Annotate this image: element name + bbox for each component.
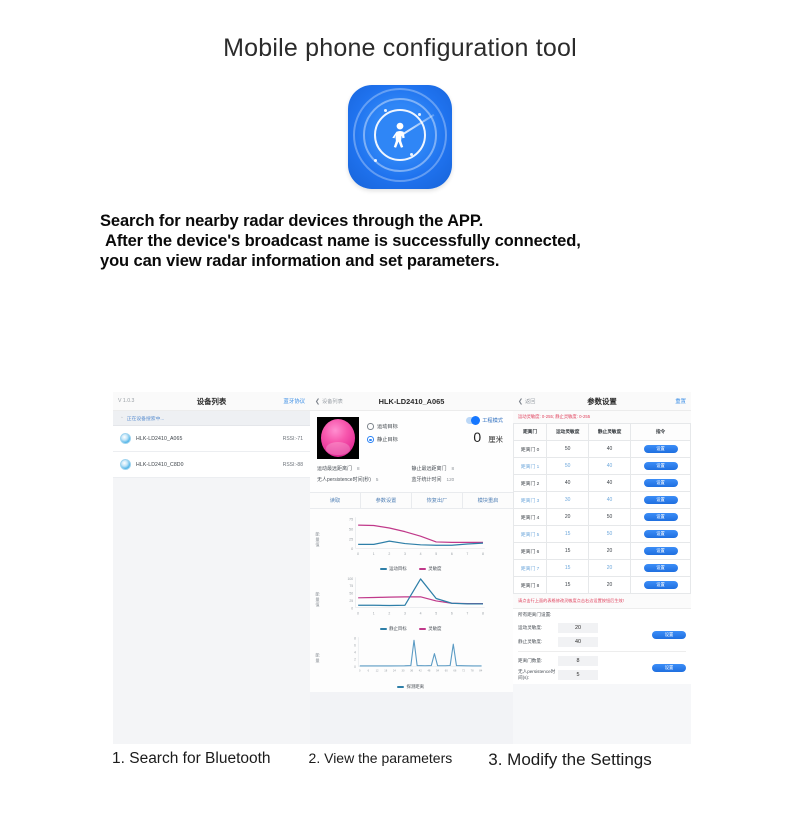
svg-text:8: 8 <box>354 637 356 641</box>
svg-text:0: 0 <box>357 611 359 615</box>
target-type-radio-group: 运动目标 静止目标 <box>367 417 398 449</box>
svg-text:4: 4 <box>420 552 422 556</box>
info-field: 静止最远距离门 8 <box>412 465 507 472</box>
step-captions: 1. Search for Bluetooth 2. View the para… <box>0 750 800 770</box>
all-gates-form: 所有距离门设置: 运动灵敏度: 20 静止灵敏度: 40 设置 距离门数量: <box>513 609 691 684</box>
cell-motion[interactable]: 15 <box>547 560 589 577</box>
form-divider <box>518 651 686 652</box>
column-header-gate: 距离门 <box>514 424 547 441</box>
radar-blip-icon <box>410 153 413 156</box>
cell-motion[interactable]: 15 <box>547 543 589 560</box>
info-key: 静止最远距离门 <box>412 465 447 472</box>
cell-still[interactable]: 20 <box>589 543 631 560</box>
cell-motion[interactable]: 40 <box>547 475 589 492</box>
cell-still[interactable]: 40 <box>589 475 631 492</box>
table-row[interactable]: 距离门 4 20 50 设置 <box>514 509 691 526</box>
legend-item: 探测距离 <box>397 684 424 690</box>
radio-option-still[interactable]: 静止目标 <box>367 436 398 443</box>
form-action-column: 设置 <box>652 621 686 649</box>
radar-blip-icon <box>418 113 421 116</box>
cell-gate: 距离门 1 <box>514 458 547 475</box>
svg-text:8: 8 <box>482 552 484 556</box>
cell-motion[interactable]: 15 <box>547 526 589 543</box>
table-row[interactable]: 距离门 3 30 40 设置 <box>514 492 691 509</box>
set-button[interactable]: 设置 <box>644 564 678 573</box>
cell-action: 设置 <box>631 509 691 526</box>
radar-app-icon <box>348 85 452 189</box>
scan-spinner-icon: ◦ <box>121 415 123 421</box>
motion-sensitivity-input[interactable]: 20 <box>558 623 598 633</box>
read-button[interactable]: 读取 <box>310 493 361 508</box>
cell-motion[interactable]: 50 <box>547 441 589 458</box>
still-sensitivity-input[interactable]: 40 <box>558 637 598 647</box>
svg-text:12: 12 <box>376 669 379 673</box>
detail-body: 运动目标 静止目标 工程模式 0 厘米 <box>310 411 513 692</box>
svg-text:3: 3 <box>404 552 406 556</box>
svg-text:36: 36 <box>410 669 413 673</box>
set-button[interactable]: 设置 <box>652 631 686 640</box>
cell-motion[interactable]: 30 <box>547 492 589 509</box>
cell-gate: 距离门 4 <box>514 509 547 526</box>
no-person-duration-input[interactable]: 5 <box>558 670 598 680</box>
radar-blip-icon <box>384 109 387 112</box>
info-key: 无人persistence时间(秒) <box>317 476 371 483</box>
svg-text:3: 3 <box>404 611 406 615</box>
svg-text:7: 7 <box>466 611 468 615</box>
detail-top-section: 运动目标 静止目标 工程模式 0 厘米 <box>310 411 513 463</box>
info-row: 运动最远距离门 8 静止最远距离门 8 <box>317 465 506 472</box>
cell-gate: 距离门 0 <box>514 441 547 458</box>
svg-text:2: 2 <box>388 552 390 556</box>
set-button[interactable]: 设置 <box>644 547 678 556</box>
list-item[interactable]: HLK-LD2410_C8D0 RSSI:-88 <box>113 452 310 478</box>
form-action-column: 设置 <box>652 654 686 682</box>
info-key: 蓝牙统计时间 <box>412 476 442 483</box>
table-row[interactable]: 距离门 8 15 20 设置 <box>514 577 691 594</box>
parameter-settings-button[interactable]: 参数设置 <box>361 493 412 508</box>
svg-text:54: 54 <box>436 669 439 673</box>
caption-step-1: 1. Search for Bluetooth <box>112 750 271 770</box>
svg-text:72: 72 <box>462 669 465 673</box>
factory-reset-button[interactable]: 恢复出厂 <box>412 493 463 508</box>
svg-text:5: 5 <box>435 552 437 556</box>
cell-gate: 距离门 7 <box>514 560 547 577</box>
cell-gate: 距离门 5 <box>514 526 547 543</box>
cell-motion[interactable]: 20 <box>547 509 589 526</box>
svg-text:78: 78 <box>471 669 474 673</box>
svg-text:4: 4 <box>420 611 422 615</box>
cell-gate: 距离门 2 <box>514 475 547 492</box>
app-icon-container <box>0 85 800 189</box>
radio-option-motion[interactable]: 运动目标 <box>367 423 398 430</box>
svg-text:6: 6 <box>368 669 370 673</box>
column-header-action: 指令 <box>631 424 691 441</box>
description-block: Search for nearby radar devices through … <box>0 211 800 271</box>
list-item[interactable]: HLK-LD2410_A065 RSSI:-71 <box>113 426 310 452</box>
detail-navbar: ❮ 设备列表 HLK-LD2410_A065 <box>310 392 513 411</box>
svg-text:6: 6 <box>354 644 356 648</box>
svg-text:0: 0 <box>354 665 356 669</box>
info-field: 蓝牙统计时间 120 <box>412 476 507 483</box>
svg-text:30: 30 <box>402 669 405 673</box>
svg-text:0: 0 <box>351 547 353 551</box>
chart-ylabel: 能量 <box>314 634 321 683</box>
cell-still[interactable]: 40 <box>589 458 631 475</box>
caption-step-2: 2. View the parameters <box>309 750 453 770</box>
settings-navbar: ❮ 返回 参数设置 重置 <box>513 392 691 411</box>
svg-text:6: 6 <box>451 552 453 556</box>
cell-still[interactable]: 40 <box>589 441 631 458</box>
settings-warning-text: 请点击行上面的表格修改灵敏度点击右边设置按钮后生效! <box>513 594 691 609</box>
svg-text:18: 18 <box>384 669 387 673</box>
svg-text:1: 1 <box>373 552 375 556</box>
cell-action: 设置 <box>631 475 691 492</box>
detail-title: HLK-LD2410_A065 <box>310 397 513 406</box>
engineering-mode-toggle[interactable] <box>466 417 479 424</box>
set-button[interactable]: 设置 <box>644 462 678 471</box>
table-row[interactable]: 距离门 5 15 50 设置 <box>514 526 691 543</box>
radar-target-blob <box>321 419 355 457</box>
scan-status-label: 正在设备搜索中... <box>127 415 165 422</box>
device-name: HLK-LD2410_C8D0 <box>136 462 184 468</box>
bluetooth-icon <box>120 459 131 470</box>
cell-action: 设置 <box>631 458 691 475</box>
description-line-1: Search for nearby radar devices through … <box>100 211 704 231</box>
set-button[interactable]: 设置 <box>644 513 678 522</box>
description-line-3: you can view radar information and set p… <box>100 251 704 271</box>
set-button[interactable]: 设置 <box>644 530 678 539</box>
table-row[interactable]: 距离门 6 15 20 设置 <box>514 543 691 560</box>
svg-text:25: 25 <box>349 599 353 603</box>
radar-visualization <box>317 417 359 459</box>
svg-text:24: 24 <box>393 669 396 673</box>
field-label: 无人persistence时间(s): <box>518 669 558 681</box>
svg-text:0: 0 <box>357 552 359 556</box>
caption-step-3: 3. Modify the Settings <box>488 750 651 770</box>
engineering-mode-row[interactable]: 工程模式 <box>466 417 503 424</box>
distance-readout: 工程模式 0 厘米 <box>466 417 506 445</box>
cell-still[interactable]: 50 <box>589 509 631 526</box>
info-fields-block: 运动最远距离门 8 静止最远距离门 8 无人persistence时间(秒) 5… <box>310 463 513 492</box>
device-list-empty-area <box>113 478 310 744</box>
set-button[interactable]: 设置 <box>644 479 678 488</box>
cell-still[interactable]: 40 <box>589 492 631 509</box>
legend-swatch <box>419 628 426 630</box>
svg-text:50: 50 <box>349 527 353 531</box>
device-list-navbar: V 1.0.3 设备列表 蓝牙协议 <box>113 392 310 411</box>
description-line-2: After the device's broadcast name is suc… <box>100 231 704 251</box>
svg-text:75: 75 <box>349 584 353 588</box>
phone-screen-device-detail: ❮ 设备列表 HLK-LD2410_A065 运动目标 静止目标 <box>310 392 513 744</box>
svg-text:48: 48 <box>427 669 430 673</box>
svg-text:50: 50 <box>349 592 353 596</box>
walking-person-icon <box>385 120 415 150</box>
legend-item: 运动目标 <box>380 566 407 572</box>
charts-container: 能量值 75 50 25 0 <box>310 509 513 692</box>
distance-unit: 厘米 <box>488 434 503 445</box>
screenshot-strip: V 1.0.3 设备列表 蓝牙协议 ◦ 正在设备搜索中... HLK-LD241… <box>113 392 691 744</box>
table-row[interactable]: 距离门 7 15 20 设置 <box>514 560 691 577</box>
radio-label: 静止目标 <box>377 436 398 443</box>
svg-text:42: 42 <box>419 669 422 673</box>
column-header-still: 静止灵敏度 <box>589 424 631 441</box>
phone-screen-device-list: V 1.0.3 设备列表 蓝牙协议 ◦ 正在设备搜索中... HLK-LD241… <box>113 392 310 744</box>
legend-swatch <box>380 568 387 570</box>
set-button[interactable]: 设置 <box>644 445 678 454</box>
gate-sensitivity-table: 距离门 运动灵敏度 静止灵敏度 指令 距离门 0 50 40 设置 距离门 1 … <box>513 423 691 594</box>
bluetooth-icon <box>120 433 131 444</box>
legend-item: 灵敏度 <box>419 566 442 572</box>
device-rssi: RSSI:-71 <box>283 436 303 442</box>
form-section-title: 所有距离门设置: <box>518 612 686 618</box>
chart-detect-distance: 能量 8 6 4 2 0 <box>310 632 513 690</box>
chart-2-svg: 100 75 50 25 0 <box>321 574 507 620</box>
module-restart-button[interactable]: 模块重启 <box>463 493 513 508</box>
info-value: 8 <box>357 466 360 471</box>
cell-action: 设置 <box>631 441 691 458</box>
device-rssi: RSSI:-88 <box>283 462 303 468</box>
svg-text:75: 75 <box>349 518 353 522</box>
legend-label: 静止目标 <box>389 626 407 632</box>
sensitivity-range-note: 运动灵敏度: 0-255; 静止灵敏度: 0-255 <box>513 411 691 423</box>
table-row[interactable]: 距离门 1 50 40 设置 <box>514 458 691 475</box>
legend-swatch <box>419 568 426 570</box>
radio-button-selected[interactable] <box>367 436 374 443</box>
svg-text:1: 1 <box>373 611 375 615</box>
svg-text:100: 100 <box>347 577 353 581</box>
device-name: HLK-LD2410_A065 <box>136 436 183 442</box>
table-header-row: 距离门 运动灵敏度 静止灵敏度 指令 <box>514 424 691 441</box>
distance-value: 0 <box>473 429 481 445</box>
svg-text:0: 0 <box>359 669 361 673</box>
svg-text:5: 5 <box>435 611 437 615</box>
legend-item: 灵敏度 <box>419 626 442 632</box>
cell-action: 设置 <box>631 492 691 509</box>
info-value: 5 <box>376 477 379 482</box>
set-button[interactable]: 设置 <box>644 496 678 505</box>
cell-still[interactable]: 20 <box>589 577 631 594</box>
legend-swatch <box>380 628 387 630</box>
svg-text:60: 60 <box>445 669 448 673</box>
field-label: 距离门数量: <box>518 658 558 664</box>
legend-label: 运动目标 <box>389 566 407 572</box>
legend-label: 探测距离 <box>406 684 424 690</box>
engineering-mode-label: 工程模式 <box>482 417 503 424</box>
field-label: 运动灵敏度: <box>518 625 558 631</box>
svg-text:8: 8 <box>482 611 484 615</box>
info-value: 8 <box>452 466 455 471</box>
cell-still[interactable]: 20 <box>589 560 631 577</box>
svg-text:0: 0 <box>351 606 353 610</box>
field-label: 静止灵敏度: <box>518 639 558 645</box>
form-group-2: 距离门数量: 8 无人persistence时间(s): 5 设置 <box>518 654 686 682</box>
page-title: Mobile phone configuration tool <box>0 34 800 63</box>
cell-gate: 距离门 6 <box>514 543 547 560</box>
chart-1-svg: 75 50 25 0 012 <box>321 514 507 560</box>
phone-screen-parameter-settings: ❮ 返回 参数设置 重置 运动灵敏度: 0-255; 静止灵敏度: 0-255 … <box>513 392 691 744</box>
legend-item: 静止目标 <box>380 626 407 632</box>
chart-ylabel: 能量值 <box>314 514 321 565</box>
svg-text:66: 66 <box>453 669 456 673</box>
chart-ylabel: 能量值 <box>314 574 321 625</box>
detail-action-bar: 读取 参数设置 恢复出厂 模块重启 <box>310 492 513 509</box>
cell-gate: 距离门 3 <box>514 492 547 509</box>
form-group-1: 运动灵敏度: 20 静止灵敏度: 40 设置 <box>518 621 686 649</box>
chart-still-energy: 能量值 100 75 50 25 0 <box>310 572 513 632</box>
cell-action: 设置 <box>631 560 691 577</box>
cell-gate: 距离门 8 <box>514 577 547 594</box>
info-key: 运动最远距离门 <box>317 465 352 472</box>
gate-count-input[interactable]: 8 <box>558 656 598 666</box>
legend-label: 灵敏度 <box>428 566 441 572</box>
cell-action: 设置 <box>631 577 691 594</box>
distance-value-row: 0 厘米 <box>466 429 503 445</box>
radio-button[interactable] <box>367 423 374 430</box>
svg-text:7: 7 <box>466 552 468 556</box>
cell-still[interactable]: 50 <box>589 526 631 543</box>
svg-text:2: 2 <box>388 611 390 615</box>
radar-blip-icon <box>374 159 377 162</box>
radio-label: 运动目标 <box>377 423 398 430</box>
info-field: 运动最远距离门 8 <box>317 465 412 472</box>
device-list-title: 设备列表 <box>113 396 310 407</box>
info-field: 无人persistence时间(秒) 5 <box>317 476 412 483</box>
chart-3-svg: 8 6 4 2 0 0612 <box>321 634 507 678</box>
info-row: 无人persistence时间(秒) 5 蓝牙统计时间 120 <box>317 476 506 483</box>
set-button[interactable]: 设置 <box>652 664 686 673</box>
set-button[interactable]: 设置 <box>644 581 678 590</box>
svg-text:25: 25 <box>349 537 353 541</box>
column-header-motion: 运动灵敏度 <box>547 424 589 441</box>
cell-motion[interactable]: 15 <box>547 577 589 594</box>
svg-text:6: 6 <box>451 611 453 615</box>
chart-3-legend: 探测距离 <box>314 684 507 690</box>
legend-label: 灵敏度 <box>428 626 441 632</box>
table-row[interactable]: 距离门 2 40 40 设置 <box>514 475 691 492</box>
cell-action: 设置 <box>631 543 691 560</box>
info-value: 120 <box>447 477 455 482</box>
table-row[interactable]: 距离门 0 50 40 设置 <box>514 441 691 458</box>
svg-text:84: 84 <box>479 669 482 673</box>
svg-text:4: 4 <box>354 651 356 655</box>
cell-motion[interactable]: 50 <box>547 458 589 475</box>
cell-action: 设置 <box>631 526 691 543</box>
chart-motion-energy: 能量值 75 50 25 0 <box>310 512 513 572</box>
legend-swatch <box>397 686 404 688</box>
svg-text:2: 2 <box>354 658 356 662</box>
scan-status-row: ◦ 正在设备搜索中... <box>113 411 310 426</box>
settings-title: 参数设置 <box>513 396 691 407</box>
